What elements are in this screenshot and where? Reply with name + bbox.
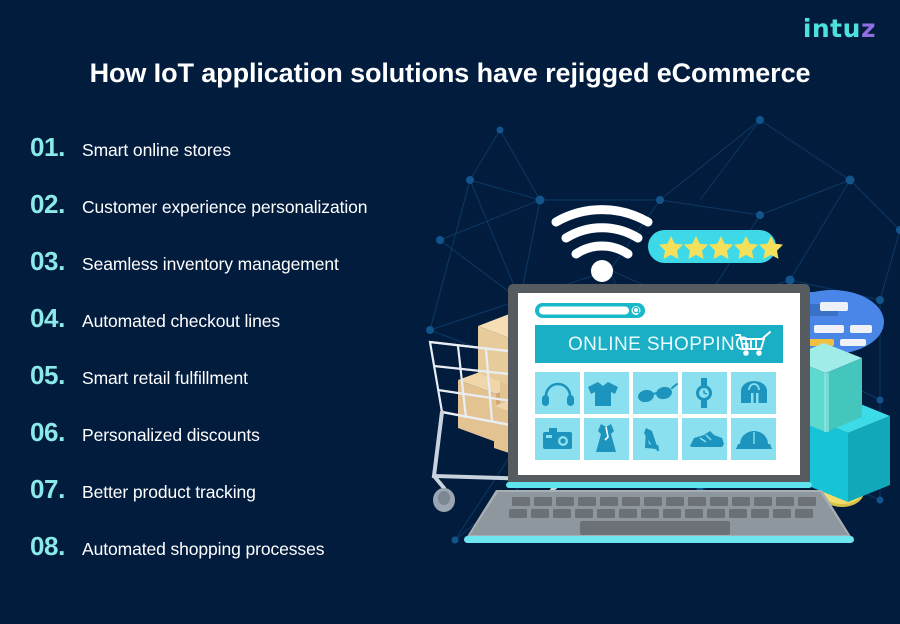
list-item-number: 01.	[30, 132, 82, 163]
list-item-number: 04.	[30, 303, 82, 334]
infographic-canvas: intuz How IoT application solutions have…	[0, 0, 900, 624]
wifi-dot	[591, 260, 613, 282]
product-tile-tshirt	[584, 372, 629, 414]
list-item-label: Customer experience personalization	[82, 197, 367, 218]
list-item: 06. Personalized discounts	[30, 417, 460, 474]
wifi-icon	[556, 210, 648, 254]
list-item-label: Smart online stores	[82, 140, 231, 161]
list-item: 01. Smart online stores	[30, 132, 460, 189]
list-item-label: Better product tracking	[82, 482, 256, 503]
logo-text-primary: intu	[803, 14, 861, 43]
list-item: 04. Automated checkout lines	[30, 303, 460, 360]
banner-label: ONLINE SHOPPING	[568, 334, 750, 355]
star-rating-badge	[648, 230, 783, 263]
list-item: 02. Customer experience personalization	[30, 189, 460, 246]
list-item: 05. Smart retail fulfillment	[30, 360, 460, 417]
product-tile-camera	[535, 418, 580, 460]
list-item-number: 03.	[30, 246, 82, 277]
product-tile-handbag	[731, 372, 776, 414]
laptop: ONLINE SHOPPING	[464, 284, 854, 543]
ecommerce-illustration: ONLINE SHOPPING	[400, 180, 900, 580]
product-tile-headphones	[535, 372, 580, 414]
product-tile-sunglasses	[633, 372, 678, 414]
list-item: 07. Better product tracking	[30, 474, 460, 531]
list-item-number: 08.	[30, 531, 82, 562]
intuz-logo: intuz	[803, 14, 876, 43]
product-tile-watch	[682, 372, 727, 414]
list-item-label: Seamless inventory management	[82, 254, 339, 275]
list-item: 03. Seamless inventory management	[30, 246, 460, 303]
logo-text-accent: z	[861, 14, 876, 43]
list-item-label: Automated shopping processes	[82, 539, 324, 560]
list-item-number: 02.	[30, 189, 82, 220]
search-bar[interactable]	[535, 303, 645, 318]
product-tile-shoe	[682, 418, 727, 460]
list-item-label: Smart retail fulfillment	[82, 368, 248, 389]
product-tile-dress	[584, 418, 629, 460]
list-item-label: Personalized discounts	[82, 425, 260, 446]
list-item-label: Automated checkout lines	[82, 311, 280, 332]
list-item: 08. Automated shopping processes	[30, 531, 460, 588]
product-tile-cap	[731, 418, 776, 460]
list-item-number: 06.	[30, 417, 82, 448]
online-shopping-banner[interactable]: ONLINE SHOPPING	[535, 325, 783, 363]
list-item-number: 05.	[30, 360, 82, 391]
list-item-number: 07.	[30, 474, 82, 505]
laptop-trackpad	[580, 521, 730, 535]
product-tile-high-heel	[633, 418, 678, 460]
page-title: How IoT application solutions have rejig…	[0, 58, 900, 89]
benefits-list: 01. Smart online stores 02. Customer exp…	[30, 132, 460, 588]
